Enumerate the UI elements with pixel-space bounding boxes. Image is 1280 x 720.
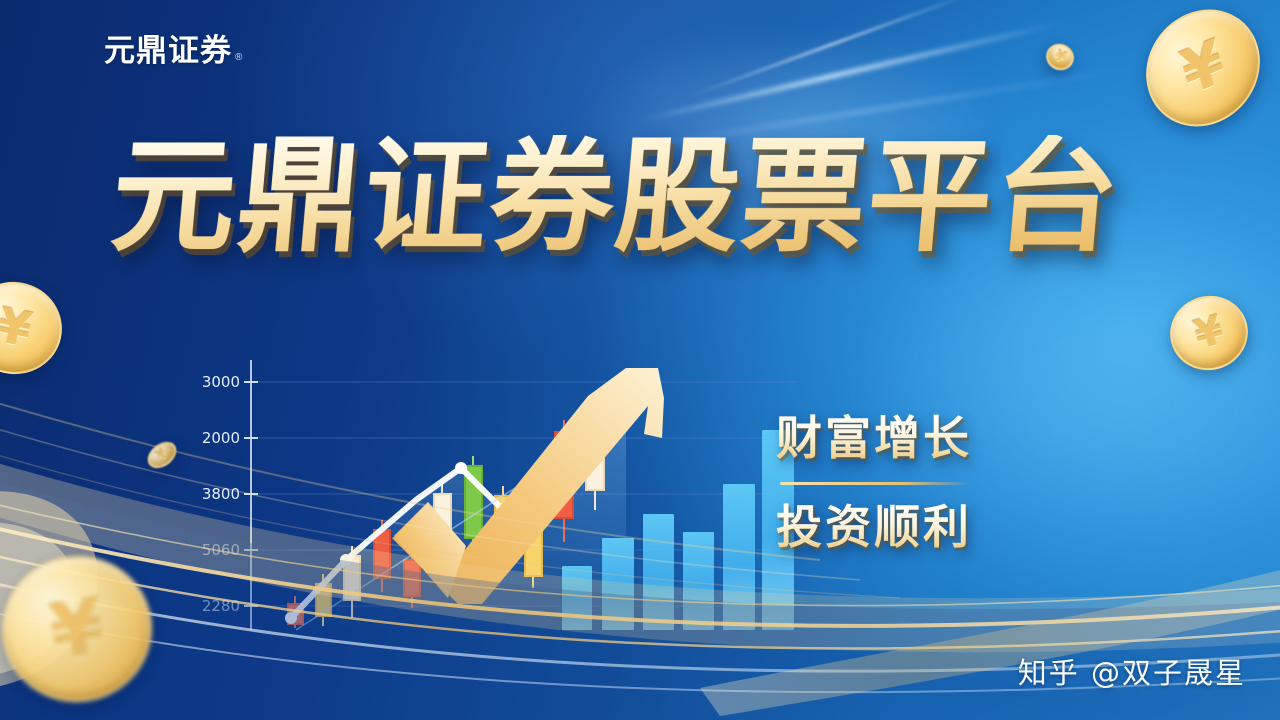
chart-y-tick-labels: 3000 2000 3800 5060 2280 — [202, 373, 240, 615]
yen-symbol: ¥ — [154, 446, 170, 463]
trend-point — [455, 462, 467, 474]
y-tick-label: 5060 — [202, 541, 240, 559]
tagline-group: 财富增长 投资顺利 — [776, 414, 1046, 552]
bar — [602, 538, 634, 630]
yen-coin-icon: ¥ — [0, 273, 71, 383]
watermark: 知乎 @双子晟星 — [1018, 650, 1246, 692]
bar — [562, 566, 592, 630]
trend-point — [340, 554, 352, 566]
tagline-divider — [780, 482, 970, 485]
chart-svg: 3000 2000 3800 5060 2280 — [196, 360, 796, 650]
tagline-line-1: 财富增长 — [776, 414, 1046, 462]
bar — [723, 484, 755, 630]
yen-symbol: ¥ — [45, 581, 110, 676]
bar — [643, 514, 674, 630]
yen-coin-icon: ¥ — [0, 546, 161, 711]
y-tick-label: 2280 — [202, 597, 240, 615]
yen-symbol: ¥ — [1189, 307, 1228, 359]
yen-symbol: ¥ — [1052, 48, 1067, 67]
yen-coin-icon: ¥ — [143, 436, 182, 473]
chart-y-axis — [244, 360, 258, 630]
brand-logo-text: 元鼎证券 — [104, 36, 232, 67]
yen-coin-icon: ¥ — [1042, 39, 1078, 74]
trend-point — [285, 612, 297, 624]
brand-logo: 元鼎证券 ® — [104, 36, 242, 67]
promo-banner: 元鼎证券 ® 元鼎证券股票平台 — [0, 0, 1280, 720]
y-tick-label: 2000 — [202, 429, 240, 447]
y-tick-label: 3800 — [202, 485, 240, 503]
yen-symbol: ¥ — [0, 297, 36, 359]
bar — [683, 532, 714, 630]
tagline-line-2: 投资顺利 — [776, 503, 1046, 551]
yen-symbol: ¥ — [1174, 26, 1232, 109]
page-title: 元鼎证券股票平台 — [112, 122, 1182, 272]
stock-chart: 3000 2000 3800 5060 2280 — [196, 360, 796, 650]
registered-mark-icon: ® — [235, 52, 242, 63]
headline-text: 元鼎证券股票平台 — [107, 135, 1126, 259]
y-tick-label: 3000 — [202, 373, 240, 391]
